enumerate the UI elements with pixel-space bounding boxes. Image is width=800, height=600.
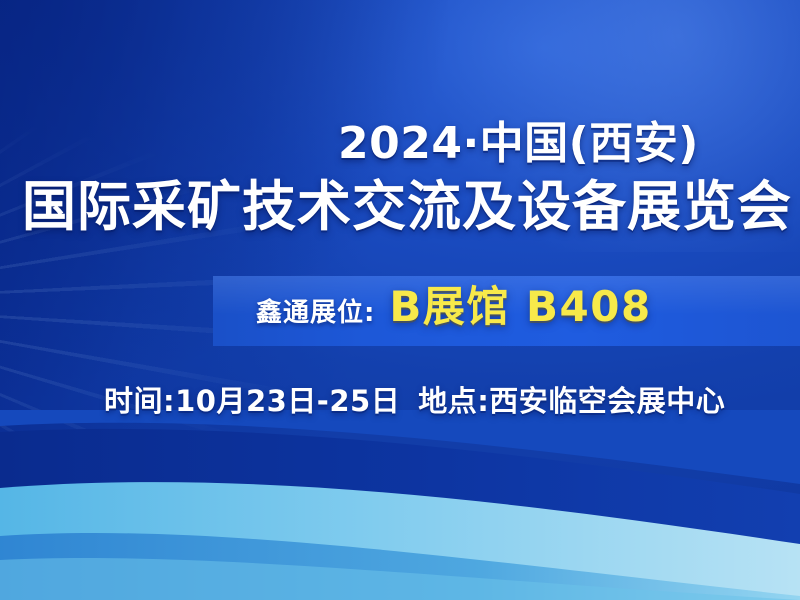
poster-text-layer: 2024·中国(西安) 国际采矿技术交流及设备展览会 鑫通展位: B展馆 B40… [0, 0, 800, 600]
poster-title-line-2: 国际采矿技术交流及设备展览会 [22, 180, 792, 234]
event-meta-row: 时间:10月23日-25日地点:西安临空会展中心 [104, 378, 725, 420]
booth-info-row: 鑫通展位: B展馆 B408 [256, 286, 652, 329]
booth-number: B展馆 B408 [389, 286, 651, 328]
exhibition-poster: 2024·中国(西安) 国际采矿技术交流及设备展览会 鑫通展位: B展馆 B40… [0, 0, 800, 600]
booth-label: 鑫通展位: [256, 292, 375, 329]
poster-title-line-1: 2024·中国(西安) [338, 122, 699, 166]
event-venue: 地点:西安临空会展中心 [418, 384, 725, 418]
event-date: 时间:10月23日-25日 [104, 384, 400, 418]
